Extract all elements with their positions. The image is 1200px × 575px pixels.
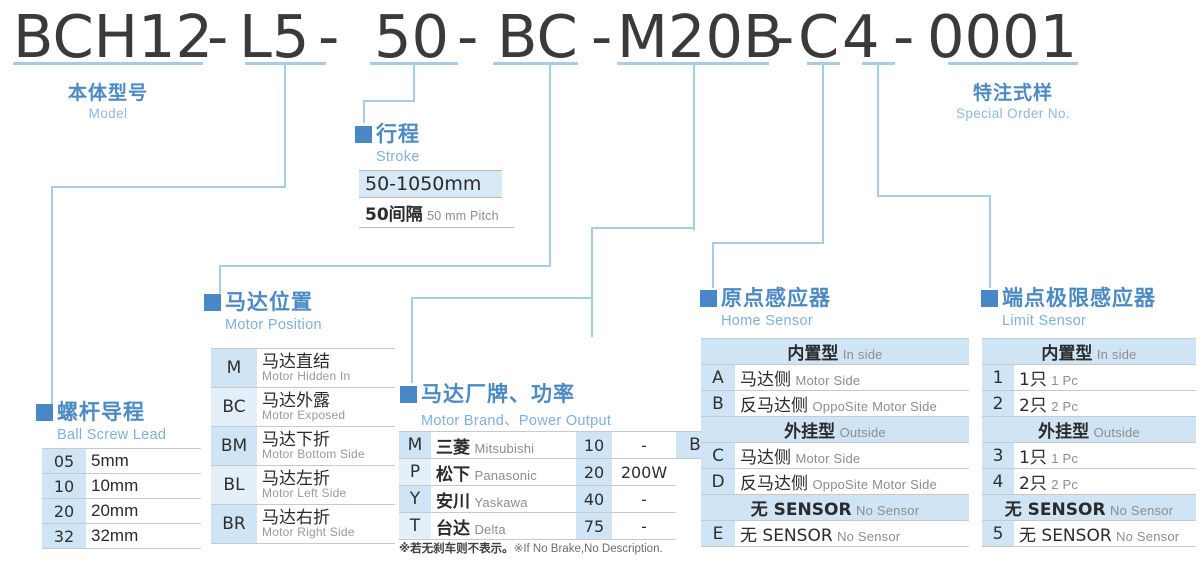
brand-name: 台达 Delta [431, 513, 576, 540]
model-code-part-8: M20B [617, 2, 783, 71]
group-motor-brand-en: Motor Brand、Power Output [421, 409, 611, 430]
leader-brand-v1 [693, 62, 695, 167]
motor-position-desc: 马达左折Motor Left Side [257, 466, 395, 505]
motor-position-marker-icon [204, 294, 221, 311]
home-sensor-code: C [701, 443, 735, 469]
lead-code: 20 [42, 499, 86, 524]
stroke-pitch-cn: 50间隔 [365, 205, 423, 225]
group-limit-sensor-en: Limit Sensor [1002, 313, 1156, 329]
limit-sensor-desc: 2只 2 Pc [1014, 391, 1196, 417]
stroke-table: 50-1050mm 50间隔 50 mm Pitch [359, 170, 514, 228]
limit-sensor-table: 内置型 In side11只 1 Pc22只 2 Pc外挂型 Outside31… [982, 338, 1196, 547]
brand-name: 三菱 Mitsubishi [431, 432, 576, 459]
table-row: 2020mm [42, 499, 201, 524]
model-code-underline-3 [493, 62, 578, 65]
motor-brand-marker-icon [400, 386, 417, 403]
home-sensor-code: A [701, 365, 735, 391]
group-ball-screw-lead-en: Ball Screw Lead [57, 427, 166, 443]
home-sensor-subheader-row: 无 SENSOR No Sensor [701, 495, 969, 521]
label-special-order-cn: 特注式样 [948, 78, 1078, 105]
table-row: C马达侧 Motor Side [701, 443, 969, 469]
home-sensor-desc: 无 SENSOR No Sensor [735, 521, 969, 547]
lead-code: 32 [42, 524, 86, 549]
table-row: 31只 1 Pc [982, 443, 1196, 469]
home-sensor-table: 内置型 In sideA马达侧 Motor SideB反马达侧 OppoSite… [701, 338, 969, 547]
model-code-part-3: - [318, 2, 339, 71]
motor-position-desc: 马达下折Motor Bottom Side [257, 427, 395, 466]
group-home-sensor-cn: 原点感应器 [721, 286, 831, 310]
brand-name: 安川 Yaskawa [431, 486, 576, 513]
model-code-part-1: - [207, 2, 228, 71]
table-row: 5无 SENSOR No Sensor [982, 521, 1196, 547]
limit-sensor-subheader: 内置型 In side [982, 339, 1196, 365]
brand-code: Y [399, 486, 431, 513]
model-code-part-9: - [773, 2, 794, 71]
leader-home-h [712, 242, 824, 244]
table-row: E无 SENSOR No Sensor [701, 521, 969, 547]
leader-brand-h2 [411, 297, 593, 299]
table-row: 3232mm [42, 524, 201, 549]
motor-position-table: M马达直结Motor Hidden InBC马达外露Motor ExposedB… [211, 348, 395, 544]
home-sensor-subheader: 内置型 In side [701, 339, 969, 365]
power-code: 75 [576, 513, 612, 540]
leader-motorpos-v1 [549, 62, 551, 205]
leader-lead-h [51, 186, 286, 188]
leader-brand-v3 [411, 297, 413, 383]
leader-limit-h [877, 195, 990, 197]
power-value: - [612, 432, 676, 459]
label-special-order-en: Special Order No. [948, 106, 1078, 121]
ball-screw-lead-table: 055mm1010mm2020mm3232mm [42, 448, 201, 549]
model-code-part-2: L5 [239, 2, 309, 71]
power-value: - [612, 486, 676, 513]
model-code-part-4: 50 [374, 2, 449, 71]
model-code-underline-0 [13, 62, 203, 65]
power-value: - [612, 513, 676, 540]
limit-sensor-desc: 1只 1 Pc [1014, 365, 1196, 391]
table-row: BR马达右折Motor Right Side [211, 505, 395, 544]
table-row: 055mm [42, 449, 201, 474]
home-sensor-code: E [701, 521, 735, 547]
motor-brand-note: ※若无刹车则不表示。※If No Brake,No Description. [399, 540, 663, 556]
motor-position-desc: 马达直结Motor Hidden In [257, 349, 395, 388]
table-row: A马达侧 Motor Side [701, 365, 969, 391]
home-sensor-subheader-row: 内置型 In side [701, 339, 969, 365]
leader-brand-v2 [591, 227, 593, 337]
model-code-part-11: 4 [842, 2, 880, 71]
power-code: 40 [576, 486, 612, 513]
limit-sensor-desc: 无 SENSOR No Sensor [1014, 521, 1196, 547]
motor-brand-note-cn: ※若无刹车则不表示。 [399, 543, 514, 555]
group-motor-brand: 马达厂牌、功率 Motor Brand、Power Output [400, 378, 611, 430]
leader-brand-h1 [591, 227, 695, 229]
limit-sensor-subheader-row: 内置型 In side [982, 339, 1196, 365]
table-row: BM马达下折Motor Bottom Side [211, 427, 395, 466]
limit-sensor-subheader-row: 无 SENSOR No Sensor [982, 495, 1196, 521]
leader-stroke-v1 [413, 62, 415, 100]
label-special-order: 特注式样 Special Order No. [948, 78, 1078, 121]
home-sensor-subheader-row: 外挂型 Outside [701, 417, 969, 443]
ball-screw-lead-marker-icon [36, 404, 53, 421]
table-row: 1010mm [42, 474, 201, 499]
group-ball-screw-lead: 螺杆导程 Ball Screw Lead [36, 396, 166, 443]
power-code: 20 [576, 459, 612, 486]
power-code: 10 [576, 432, 612, 459]
limit-sensor-subheader: 外挂型 Outside [982, 417, 1196, 443]
group-home-sensor-en: Home Sensor [721, 313, 831, 329]
motor-brand-note-en: ※If No Brake,No Description. [514, 543, 663, 555]
leader-limit-v1b [877, 170, 879, 197]
leader-home-v1 [822, 62, 824, 242]
lead-value: 5mm [86, 449, 201, 474]
limit-sensor-code: 3 [982, 443, 1014, 469]
table-row: BC马达外露Motor Exposed [211, 388, 395, 427]
group-limit-sensor: 端点极限感应器 Limit Sensor [981, 282, 1156, 329]
lead-code: 05 [42, 449, 86, 474]
model-code-part-7: - [591, 2, 612, 71]
model-code-part-0: BCH12 [13, 2, 213, 71]
leader-motorpos-v1b [549, 205, 551, 265]
table-row: M三菱 Mitsubishi10-B [399, 432, 714, 459]
group-stroke: 行程 Stroke [355, 118, 420, 165]
motor-brand-table: M三菱 Mitsubishi10-BP松下 Panasonic20200WY安川… [399, 431, 714, 540]
leader-brand-v1b [693, 160, 695, 230]
table-row: T台达 Delta75- [399, 513, 714, 540]
model-code-part-10: C [798, 2, 839, 71]
home-sensor-code: D [701, 469, 735, 495]
table-row: Y安川 Yaskawa40- [399, 486, 714, 513]
group-motor-brand-cn: 马达厂牌、功率 [421, 382, 575, 406]
home-sensor-subheader: 外挂型 Outside [701, 417, 969, 443]
limit-sensor-code: 2 [982, 391, 1014, 417]
motor-position-code: BR [211, 505, 257, 544]
limit-sensor-desc: 2只 2 Pc [1014, 469, 1196, 495]
lead-value: 32mm [86, 524, 201, 549]
leader-motorpos-h [219, 265, 551, 267]
motor-position-desc: 马达外露Motor Exposed [257, 388, 395, 427]
home-sensor-desc: 马达侧 Motor Side [735, 443, 969, 469]
brand-name: 松下 Panasonic [431, 459, 576, 486]
motor-position-desc: 马达右折Motor Right Side [257, 505, 395, 544]
model-code-part-13: 0001 [927, 2, 1077, 71]
table-row: BL马达左折Motor Left Side [211, 466, 395, 505]
label-model-cn: 本体型号 [13, 78, 203, 105]
lead-value: 10mm [86, 474, 201, 499]
home-sensor-code: B [701, 391, 735, 417]
table-row: B反马达侧 OppoSite Motor Side [701, 391, 969, 417]
motor-position-code: BC [211, 388, 257, 427]
model-number-code: BCH12-L5-50-BC-M20B-C4-0001 [0, 2, 1200, 64]
leader-limit-v2 [989, 195, 991, 288]
model-code-part-12: - [893, 2, 914, 71]
home-sensor-marker-icon [700, 290, 717, 307]
group-motor-position: 马达位置 Motor Position [204, 286, 322, 333]
home-sensor-subheader: 无 SENSOR No Sensor [701, 495, 969, 521]
limit-sensor-code: 1 [982, 365, 1014, 391]
group-limit-sensor-cn: 端点极限感应器 [1002, 286, 1156, 310]
leader-limit-v1 [877, 62, 879, 172]
home-sensor-desc: 马达侧 Motor Side [735, 365, 969, 391]
group-motor-position-cn: 马达位置 [225, 290, 313, 314]
group-motor-position-en: Motor Position [225, 317, 322, 333]
leader-lead-v2 [51, 186, 53, 405]
brand-code: P [399, 459, 431, 486]
group-stroke-cn: 行程 [376, 122, 420, 146]
group-ball-screw-lead-cn: 螺杆导程 [57, 400, 145, 424]
table-row: 42只 2 Pc [982, 469, 1196, 495]
label-model: 本体型号 Model [13, 78, 203, 121]
table-row: M马达直结Motor Hidden In [211, 349, 395, 388]
group-home-sensor: 原点感应器 Home Sensor [700, 282, 831, 329]
group-stroke-en: Stroke [376, 149, 420, 165]
stroke-marker-icon [355, 126, 372, 143]
home-sensor-desc: 反马达侧 OppoSite Motor Side [735, 391, 969, 417]
motor-position-code: M [211, 349, 257, 388]
brand-code: M [399, 432, 431, 459]
leader-lead-v1 [284, 62, 286, 186]
limit-sensor-subheader-row: 外挂型 Outside [982, 417, 1196, 443]
stroke-pitch-en: 50 mm Pitch [427, 209, 499, 223]
home-sensor-desc: 反马达侧 OppoSite Motor Side [735, 469, 969, 495]
table-row: 11只 1 Pc [982, 365, 1196, 391]
motor-position-code: BM [211, 427, 257, 466]
limit-sensor-marker-icon [981, 290, 998, 307]
lead-code: 10 [42, 474, 86, 499]
limit-sensor-code: 5 [982, 521, 1014, 547]
stroke-range: 50-1050mm [359, 170, 502, 198]
limit-sensor-code: 4 [982, 469, 1014, 495]
lead-value: 20mm [86, 499, 201, 524]
limit-sensor-desc: 1只 1 Pc [1014, 443, 1196, 469]
label-model-en: Model [13, 106, 203, 121]
model-code-underline-7 [948, 62, 1078, 65]
table-row: P松下 Panasonic20200W [399, 459, 714, 486]
model-code-part-6: BC [497, 2, 578, 71]
model-code-part-5: - [457, 2, 478, 71]
leader-stroke-h [363, 100, 415, 102]
table-row: D反马达侧 OppoSite Motor Side [701, 469, 969, 495]
brand-code: T [399, 513, 431, 540]
motor-position-code: BL [211, 466, 257, 505]
power-value: 200W [612, 459, 676, 486]
table-row: 22只 2 Pc [982, 391, 1196, 417]
limit-sensor-subheader: 无 SENSOR No Sensor [982, 495, 1196, 521]
stroke-pitch: 50间隔 50 mm Pitch [359, 198, 514, 228]
